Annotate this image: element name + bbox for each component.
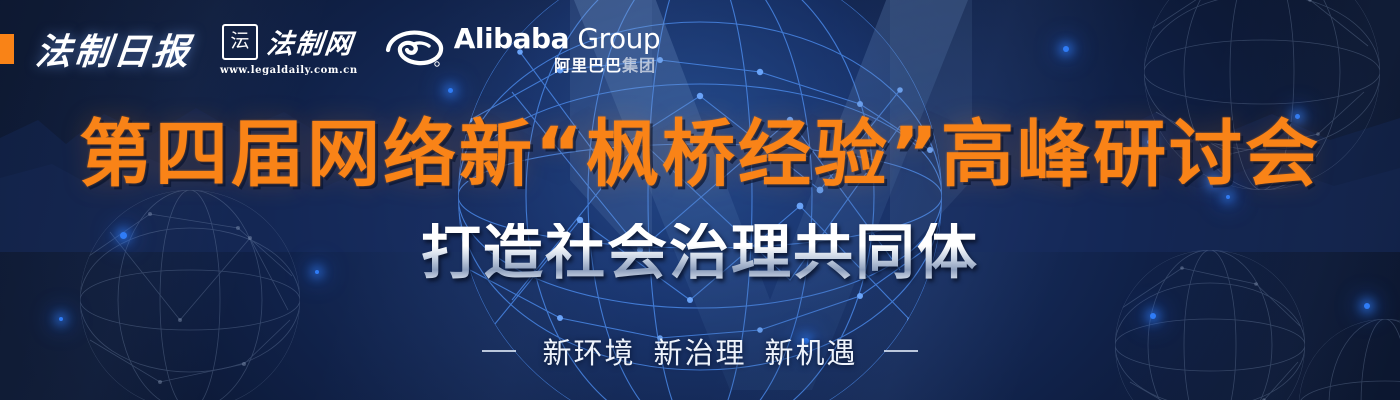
glow-dot <box>59 317 63 321</box>
sponsor-logo-row: 法制日报 沄 法制网 www.legaldaily.com.cn <box>0 18 660 80</box>
glow-dot <box>1063 46 1069 52</box>
conference-banner: 法制日报 沄 法制网 www.legaldaily.com.cn <box>0 0 1400 400</box>
logo-legal-net-top: 沄 法制网 <box>222 22 354 61</box>
logo-legal-net-text: 法制网 <box>265 22 356 61</box>
subtitle: 打造社会治理共同体 <box>0 223 1400 283</box>
tagline-word: 新环境 <box>542 330 635 372</box>
alibaba-wordmark: Alibaba Group <box>454 25 660 53</box>
tagline: 新环境 新治理 新机遇 <box>0 330 1400 372</box>
glow-dot <box>1150 313 1156 319</box>
tagline-words: 新环境 新治理 新机遇 <box>542 330 857 372</box>
alibaba-name-cn-dark: 阿里巴巴 <box>554 56 622 75</box>
main-title: 第四届网络新“枫桥经验”高峰研讨会 <box>0 118 1400 191</box>
glow-dot <box>1364 303 1370 309</box>
logo-alibaba-group[interactable]: Alibaba Group 阿里巴巴集团 <box>384 18 660 80</box>
glow-dot <box>448 88 453 93</box>
logo-legal-net[interactable]: 沄 法制网 www.legaldaily.com.cn <box>218 18 358 80</box>
alibaba-name-bold: Alibaba <box>454 22 569 55</box>
orange-accent-bar <box>0 34 14 64</box>
logo-legal-daily[interactable]: 法制日报 <box>36 18 192 80</box>
alibaba-smile-icon <box>384 28 446 70</box>
logo-legal-daily-text: 法制日报 <box>33 23 194 75</box>
logo-legal-net-url: www.legaldaily.com.cn <box>218 65 358 76</box>
tagline-rule-left <box>482 350 516 352</box>
alibaba-name-cn-light: 集团 <box>622 56 656 75</box>
legal-net-seal-icon: 沄 <box>222 24 258 60</box>
alibaba-wordmark-cn: 阿里巴巴集团 <box>554 58 660 74</box>
tagline-word: 新机遇 <box>765 330 858 372</box>
tagline-rule-right <box>884 350 918 352</box>
alibaba-name-light: Group <box>577 22 660 55</box>
tagline-word: 新治理 <box>653 330 746 372</box>
